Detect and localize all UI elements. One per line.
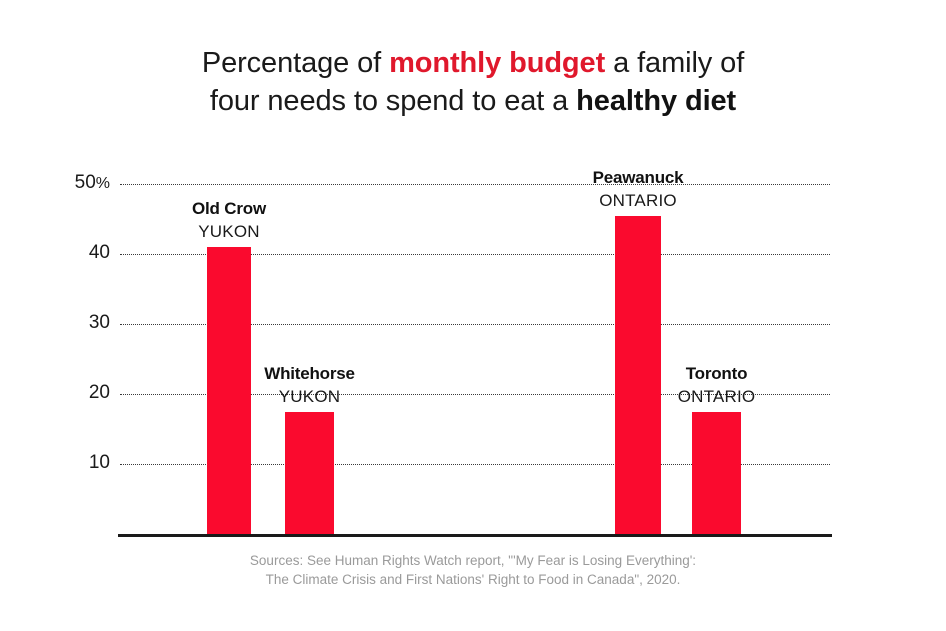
bar-label-city: Peawanuck [528, 166, 748, 189]
bar-label-city: Toronto [607, 362, 827, 385]
y-axis-percent-symbol: % [96, 175, 110, 192]
bar-label-region: ONTARIO [528, 189, 748, 212]
bar-label-whitehorse: WhitehorseYUKON [200, 362, 420, 408]
y-axis-tick-label-20: 20 [50, 382, 110, 404]
chart-figure: Percentage of monthly budget a family of… [0, 0, 946, 631]
x-axis-line [118, 534, 832, 537]
plot-area: 50%40302010Old CrowYUKONWhitehorseYUKONP… [0, 0, 946, 631]
bar-label-peawanuck: PeawanuckONTARIO [528, 166, 748, 212]
bar-whitehorse [285, 412, 334, 535]
source-note-line-2: The Climate Crisis and First Nations' Ri… [0, 570, 946, 589]
bar-toronto [692, 412, 741, 535]
bar-label-city: Old Crow [119, 197, 339, 220]
bar-label-region: YUKON [119, 220, 339, 243]
bar-label-toronto: TorontoONTARIO [607, 362, 827, 408]
bar-label-region: YUKON [200, 385, 420, 408]
source-note-line-1: Sources: See Human Rights Watch report, … [0, 551, 946, 570]
y-axis-tick-label-30: 30 [50, 312, 110, 334]
y-axis-tick-label-10: 10 [50, 452, 110, 474]
y-axis-tick-label-40: 40 [50, 242, 110, 264]
bar-label-city: Whitehorse [200, 362, 420, 385]
bar-label-old-crow: Old CrowYUKON [119, 197, 339, 243]
y-axis-tick-label-50: 50% [50, 172, 110, 194]
bar-label-region: ONTARIO [607, 385, 827, 408]
source-note: Sources: See Human Rights Watch report, … [0, 551, 946, 589]
